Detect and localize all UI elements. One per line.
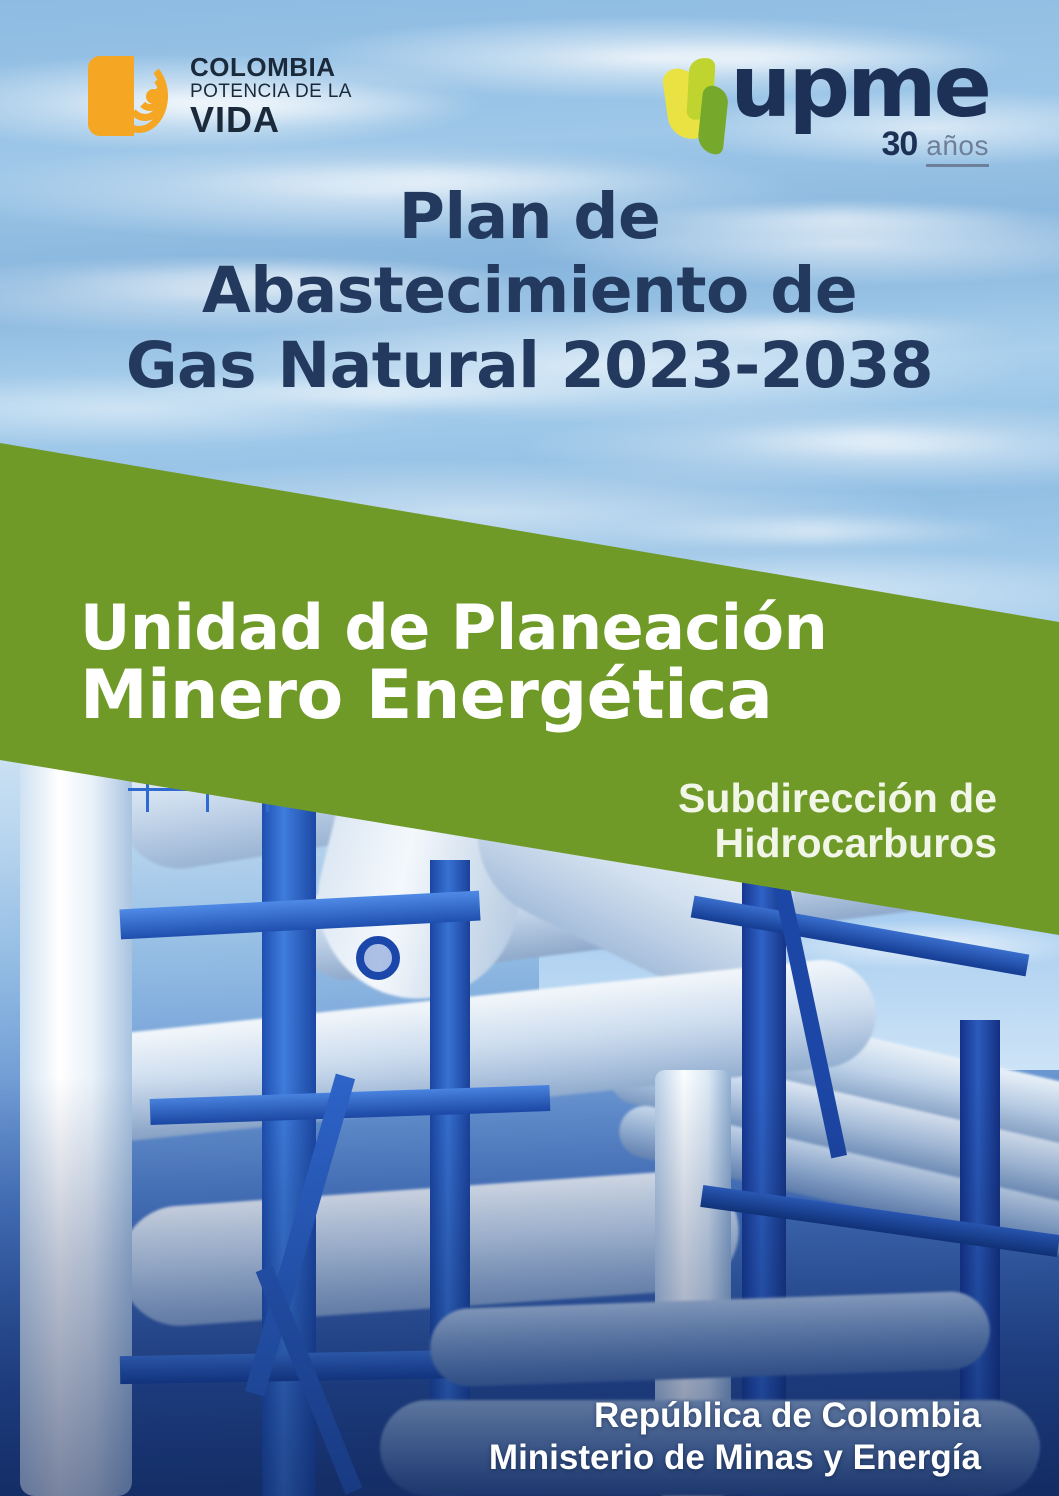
upme-wordmark: upme [730,52,989,123]
upme-leaves-icon [666,58,728,154]
cover-title-line-2: Abastecimiento de [0,254,1059,328]
institution-line-2: Minero Energética [80,661,1000,730]
footer-line-1: República de Colombia [261,1395,981,1436]
cover-title: Plan de Abastecimiento de Gas Natural 20… [0,180,1059,403]
cover-footer: República de Colombia Ministerio de Mina… [261,1395,981,1478]
colombia-logo-line3: VIDA [190,102,352,138]
subdivision-line-1: Subdirección de [357,776,997,821]
upme-anniversary-number: 30 [881,125,917,164]
colombia-logo: COLOMBIA POTENCIA DE LA VIDA [88,52,352,140]
colombia-signal-mark-icon [88,52,176,140]
footer-line-2: Ministerio de Minas y Energía [261,1437,981,1478]
document-cover: COLOMBIA POTENCIA DE LA VIDA upme 30 año… [0,0,1059,1496]
cover-title-line-3: Gas Natural 2023-2038 [0,329,1059,403]
upme-logo: upme 30 años [666,52,989,167]
subdivision-line-2: Hidrocarburos [357,821,997,866]
colombia-logo-line1: COLOMBIA [190,54,352,80]
institution-line-1: Unidad de Planeación [80,596,1000,659]
institution-name: Unidad de Planeación Minero Energética [80,596,1000,731]
valve-wheel [356,936,400,980]
cover-title-line-1: Plan de [0,180,1059,254]
upme-anniversary-word: años [926,130,989,167]
subdivision-name: Subdirección de Hidrocarburos [357,776,997,866]
